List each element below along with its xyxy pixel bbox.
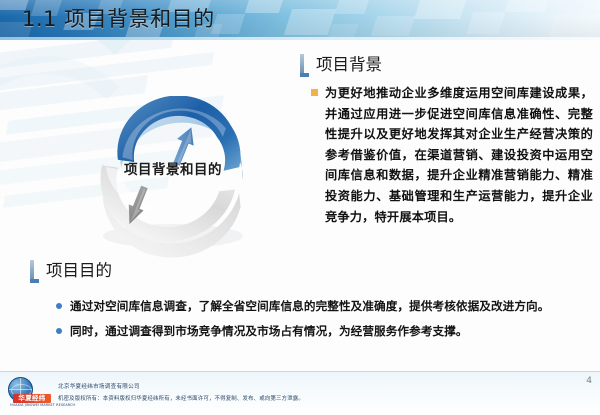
slide-canvas: 1.1 项目背景和目的 (0, 0, 600, 415)
heading-marker-icon (30, 260, 39, 283)
slide-footer: 华夏经纬 HUAXIA JINGWEI MARKET RESEARCH 北京华夏… (0, 372, 600, 415)
list-item: 同时，通过调查得到市场竞争情况及市场占有情况，为经营服务作参考支撑。 (56, 323, 576, 339)
cycle-diagram: 项目背景和目的 (82, 96, 264, 258)
footer-disclaimer: 机密及版权所有：本资料版权归华夏经纬所有，未经书面许可，不得复制、发布、或向第三… (58, 394, 304, 402)
company-logo: 华夏经纬 HUAXIA JINGWEI MARKET RESEARCH (6, 377, 52, 407)
list-item: 通过对空间库信息调查，了解全省空间库信息的完整性及准确度，提供考核依据及改进方向… (56, 298, 576, 314)
round-bullet-icon (56, 303, 62, 309)
logo-text: 华夏经纬 (15, 394, 49, 403)
section-title-background: 项目背景 (316, 51, 382, 75)
purpose-bullet-list: 通过对空间库信息调查，了解全省空间库信息的完整性及准确度，提供考核依据及改进方向… (56, 298, 576, 348)
logo-nameplate: 华夏经纬 (13, 394, 51, 403)
section-title-purpose: 项目目的 (46, 257, 112, 281)
diagram-center-label: 项目背景和目的 (82, 158, 264, 178)
heading-marker-icon (300, 54, 309, 77)
logo-subtext: HUAXIA JINGWEI MARKET RESEARCH (10, 403, 52, 407)
round-bullet-icon (56, 328, 62, 334)
background-bullet-row: 为更好地推动企业多维度运用空间库建设成果，并通过应用进一步促进空间库信息准确性、… (311, 83, 593, 227)
background-body-block: 为更好地推动企业多维度运用空间库建设成果，并通过应用进一步促进空间库信息准确性、… (311, 83, 593, 227)
footer-company-name: 北京华夏经纬市场调查有限公司 (58, 382, 140, 390)
page-title: 1.1 项目背景和目的 (22, 4, 215, 34)
page-number: 4 (586, 376, 592, 386)
purpose-item-text: 同时，通过调查得到市场竞争情况及市场占有情况，为经营服务作参考支撑。 (70, 323, 468, 339)
background-body-text: 为更好地推动企业多维度运用空间库建设成果，并通过应用进一步促进空间库信息准确性、… (325, 83, 593, 227)
purpose-item-text: 通过对空间库信息调查，了解全省空间库信息的完整性及准确度，提供考核依据及改进方向… (70, 298, 549, 314)
slide-header: 1.1 项目背景和目的 (0, 0, 600, 37)
square-bullet-icon (311, 89, 318, 96)
